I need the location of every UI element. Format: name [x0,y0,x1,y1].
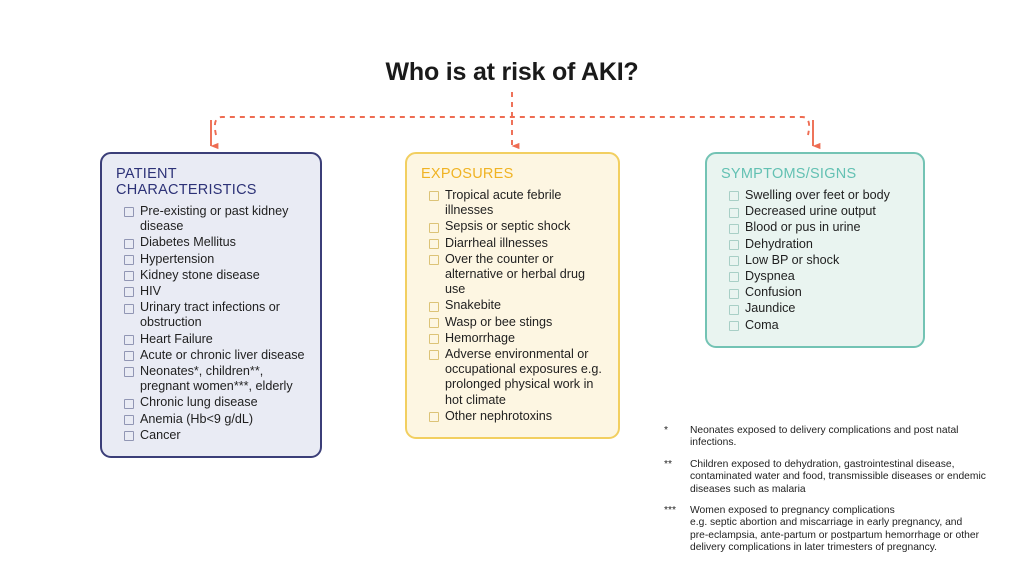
footnote-line: e.g. septic abortion and miscarriage in … [690,517,1014,529]
list-item[interactable]: Low BP or shock [719,253,911,268]
list-item-label: Blood or pus in urine [745,220,911,235]
checkbox-icon[interactable] [729,272,739,282]
list-item-label: Acute or chronic liver disease [140,348,308,363]
checkbox-icon[interactable] [124,239,134,249]
footnote-text: Children exposed to dehydration, gastroi… [690,459,1014,496]
checkbox-icon[interactable] [429,334,439,344]
list-item[interactable]: Hypertension [114,252,308,267]
footnote: * Neonates exposed to delivery complicat… [664,425,1014,450]
list-item-label: Pre-existing or past kidney disease [140,204,308,234]
list-item-label: Diabetes Mellitus [140,235,308,250]
connector-bus [215,117,809,135]
list-item[interactable]: Decreased urine output [719,204,911,219]
checkbox-icon[interactable] [124,367,134,377]
list-item-label: Dehydration [745,237,911,252]
list-item-label: Neonates*, children**, pregnant women***… [140,364,308,394]
card-title-exposures: EXPOSURES [421,166,606,182]
footnote-marker: * [664,425,690,437]
list-item-label: Heart Failure [140,332,308,347]
list-item[interactable]: Confusion [719,285,911,300]
list-item[interactable]: Sepsis or septic shock [419,219,606,234]
checklist-exposures: Tropical acute febrile illnesses Sepsis … [419,188,606,424]
footnote-line: diseases such as malaria [690,484,1014,496]
list-item-label: Hypertension [140,252,308,267]
checkbox-icon[interactable] [124,351,134,361]
checkbox-icon[interactable] [124,287,134,297]
list-item-label: Kidney stone disease [140,268,308,283]
list-item-label: Cancer [140,428,308,443]
checkbox-icon[interactable] [124,415,134,425]
checkbox-icon[interactable] [729,305,739,315]
card-title-patient-characteristics: PATIENT CHARACTERISTICS [116,166,308,198]
list-item[interactable]: Blood or pus in urine [719,220,911,235]
checkbox-icon[interactable] [429,412,439,422]
checkbox-icon[interactable] [429,239,439,249]
list-item[interactable]: Diabetes Mellitus [114,235,308,250]
list-item[interactable]: Chronic lung disease [114,395,308,410]
list-item[interactable]: HIV [114,284,308,299]
list-item[interactable]: Wasp or bee stings [419,315,606,330]
list-item[interactable]: Over the counter or alternative or herba… [419,252,606,298]
checkbox-icon[interactable] [124,207,134,217]
footnote-line: Neonates exposed to delivery complicatio… [690,425,1014,437]
list-item[interactable]: Acute or chronic liver disease [114,348,308,363]
list-item[interactable]: Adverse environmental or occupational ex… [419,347,606,408]
list-item[interactable]: Other nephrotoxins [419,409,606,424]
list-item-label: Confusion [745,285,911,300]
checkbox-icon[interactable] [124,304,134,314]
list-item-label: Swelling over feet or body [745,188,911,203]
list-item[interactable]: Snakebite [419,298,606,313]
card-patient-characteristics: PATIENT CHARACTERISTICS Pre-existing or … [100,152,322,458]
list-item[interactable]: Jaundice [719,301,911,316]
card-exposures: EXPOSURES Tropical acute febrile illness… [405,152,620,439]
list-item[interactable]: Kidney stone disease [114,268,308,283]
checkbox-icon[interactable] [729,289,739,299]
checkbox-icon[interactable] [729,224,739,234]
list-item-label: Wasp or bee stings [445,315,606,330]
list-item[interactable]: Anemia (Hb<9 g/dL) [114,412,308,427]
checkbox-icon[interactable] [729,321,739,331]
list-item-label: Snakebite [445,298,606,313]
checkbox-icon[interactable] [729,256,739,266]
checkbox-icon[interactable] [124,431,134,441]
list-item-label: Diarrheal illnesses [445,236,606,251]
checkbox-icon[interactable] [729,191,739,201]
list-item[interactable]: Cancer [114,428,308,443]
card-title-symptoms-signs: SYMPTOMS/SIGNS [721,166,911,182]
checkbox-icon[interactable] [429,350,439,360]
footnote-line: delivery complications in later trimeste… [690,542,1014,554]
checkbox-icon[interactable] [729,240,739,250]
list-item-label: Urinary tract infections or obstruction [140,300,308,330]
list-item[interactable]: Dyspnea [719,269,911,284]
checkbox-icon[interactable] [429,302,439,312]
list-item-label: Decreased urine output [745,204,911,219]
list-item-label: Sepsis or septic shock [445,219,606,234]
list-item-label: HIV [140,284,308,299]
checklist-symptoms-signs: Swelling over feet or body Decreased uri… [719,188,911,333]
checkbox-icon[interactable] [124,271,134,281]
footnote-text: Women exposed to pregnancy complications… [690,505,1014,555]
list-item[interactable]: Swelling over feet or body [719,188,911,203]
list-item-label: Anemia (Hb<9 g/dL) [140,412,308,427]
list-item-label: Low BP or shock [745,253,911,268]
footnotes: * Neonates exposed to delivery complicat… [664,425,1014,564]
list-item-label: Coma [745,318,911,333]
checkbox-icon[interactable] [124,255,134,265]
checkbox-icon[interactable] [429,191,439,201]
list-item[interactable]: Neonates*, children**, pregnant women***… [114,364,308,394]
list-item-label: Over the counter or alternative or herba… [445,252,606,298]
list-item[interactable]: Coma [719,318,911,333]
footnote-line: contaminated water and food, transmissib… [690,471,1014,483]
footnote-line: Children exposed to dehydration, gastroi… [690,459,1014,471]
checkbox-icon[interactable] [429,318,439,328]
footnote-line: Women exposed to pregnancy complications [690,505,1014,517]
list-item[interactable]: Hemorrhage [419,331,606,346]
footnote: *** Women exposed to pregnancy complicat… [664,505,1014,555]
list-item-label: Other nephrotoxins [445,409,606,424]
list-item-label: Jaundice [745,301,911,316]
list-item[interactable]: Diarrheal illnesses [419,236,606,251]
footnote-line: infections. [690,437,1014,449]
list-item[interactable]: Tropical acute febrile illnesses [419,188,606,218]
list-item[interactable]: Heart Failure [114,332,308,347]
list-item-label: Adverse environmental or occupational ex… [445,347,606,408]
list-item-label: Tropical acute febrile illnesses [445,188,606,218]
checkbox-icon[interactable] [429,255,439,265]
list-item-label: Dyspnea [745,269,911,284]
footnote-marker: *** [664,505,690,517]
list-item-label: Chronic lung disease [140,395,308,410]
footnote-line: pre-eclampsia, ante-partum or postpartum… [690,530,1014,542]
checkbox-icon[interactable] [429,223,439,233]
footnote: ** Children exposed to dehydration, gast… [664,459,1014,496]
list-item-label: Hemorrhage [445,331,606,346]
card-symptoms-signs: SYMPTOMS/SIGNS Swelling over feet or bod… [705,152,925,348]
list-item[interactable]: Pre-existing or past kidney disease [114,204,308,234]
checkbox-icon[interactable] [729,208,739,218]
list-item[interactable]: Dehydration [719,237,911,252]
list-item[interactable]: Urinary tract infections or obstruction [114,300,308,330]
checklist-patient-characteristics: Pre-existing or past kidney disease Diab… [114,204,308,443]
footnote-marker: ** [664,459,690,471]
footnote-text: Neonates exposed to delivery complicatio… [690,425,1014,450]
page-title: Who is at risk of AKI? [0,58,1024,87]
checkbox-icon[interactable] [124,399,134,409]
checkbox-icon[interactable] [124,335,134,345]
